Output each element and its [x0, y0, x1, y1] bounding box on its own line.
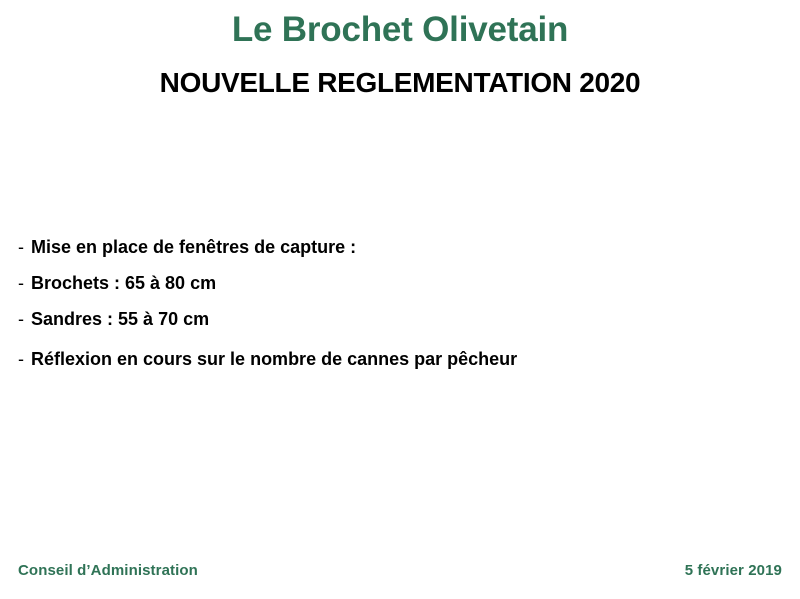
list-item: - Réflexion en cours sur le nombre de ca… [18, 350, 778, 368]
footer-date: 5 février 2019 [685, 562, 782, 579]
bullet-dash-icon: - [18, 310, 31, 328]
list-item-label: Mise en place de fenêtres de capture : [31, 238, 356, 256]
list-item: - Brochets : 65 à 80 cm [18, 274, 778, 292]
page-subtitle: NOUVELLE REGLEMENTATION 2020 [0, 67, 800, 99]
list-item: - Sandres : 55 à 70 cm [18, 310, 778, 328]
footer-organization: Conseil d’Administration [18, 562, 198, 579]
presentation-slide: Le Brochet Olivetain NOUVELLE REGLEMENTA… [0, 0, 800, 599]
list-item: - Mise en place de fenêtres de capture : [18, 238, 778, 256]
list-item-label: Brochets : 65 à 80 cm [31, 274, 216, 292]
list-item-label: Sandres : 55 à 70 cm [31, 310, 209, 328]
list-item-label: Réflexion en cours sur le nombre de cann… [31, 350, 517, 368]
bullet-dash-icon: - [18, 238, 31, 256]
bullet-list: - Mise en place de fenêtres de capture :… [18, 238, 778, 386]
page-title: Le Brochet Olivetain [0, 10, 800, 49]
bullet-dash-icon: - [18, 350, 31, 368]
bullet-dash-icon: - [18, 274, 31, 292]
